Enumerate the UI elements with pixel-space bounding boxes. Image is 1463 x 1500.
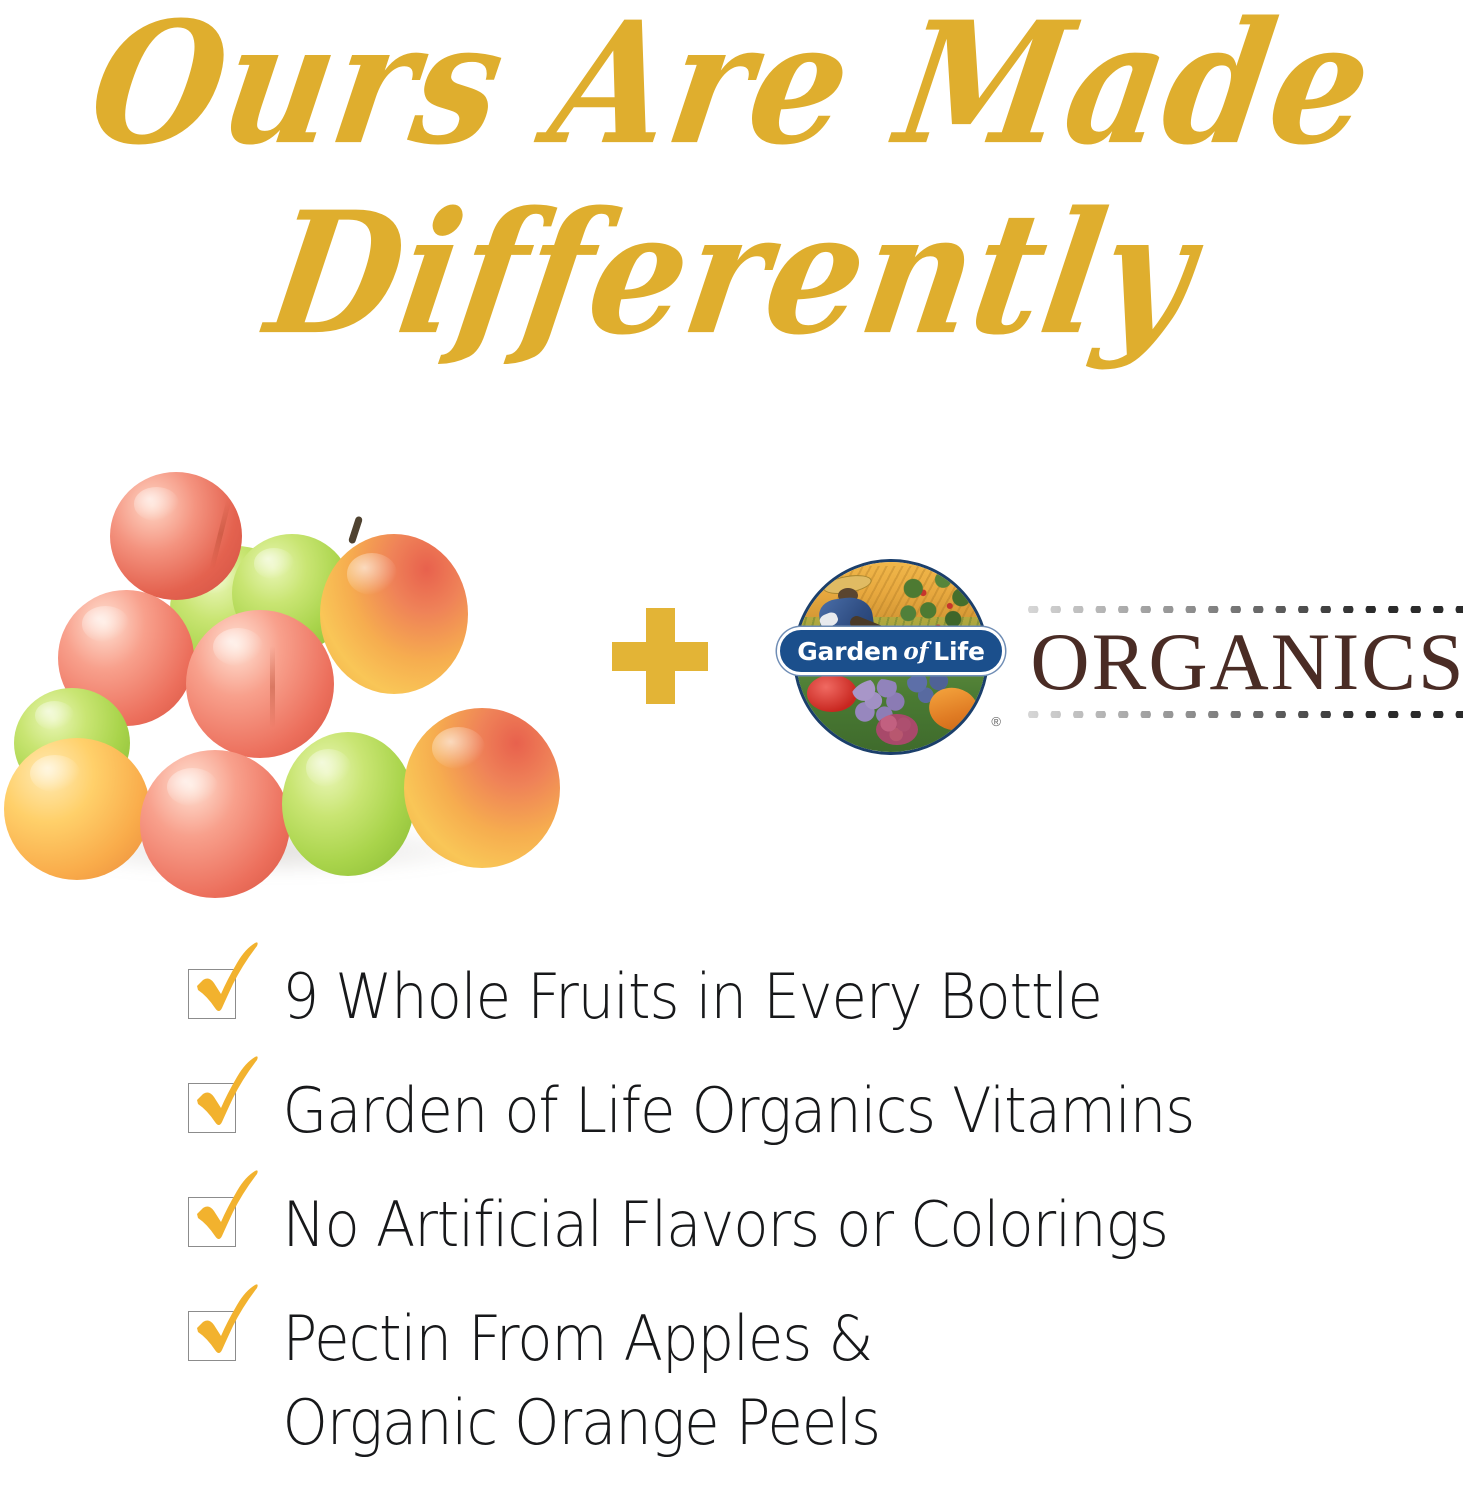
dotted-rule-top xyxy=(1022,606,1463,613)
organics-wordmark: ORGANICS xyxy=(1022,598,1463,726)
feature-checklist: 9 Whole Fruits in Every Bottle Garden of… xyxy=(188,955,1418,1491)
peach-front xyxy=(140,750,290,898)
raspberry-icon xyxy=(876,714,918,745)
organics-text: ORGANICS xyxy=(1022,620,1463,704)
checklist-label-2: Garden of Life Organics Vitamins xyxy=(236,1069,1335,1153)
dotted-rule-bottom xyxy=(1022,711,1463,718)
peach-crease xyxy=(270,646,275,728)
plus-icon xyxy=(612,608,708,704)
plus-bar-vertical xyxy=(646,608,675,704)
headline-line-2: Differently xyxy=(0,187,1463,363)
checkbox-4[interactable] xyxy=(188,1311,236,1361)
checkbox-2[interactable] xyxy=(188,1083,236,1133)
fruit-photo xyxy=(0,450,600,890)
checklist-item: Pectin From Apples & Organic Orange Peel… xyxy=(188,1297,1418,1465)
peach-gold xyxy=(4,738,150,880)
logo-name-garden: Garden xyxy=(797,637,898,666)
peach-twotone xyxy=(320,534,468,694)
checkbox-3[interactable] xyxy=(188,1197,236,1247)
apple-green-front xyxy=(282,732,414,876)
checklist-label-1: 9 Whole Fruits in Every Bottle xyxy=(236,955,1335,1039)
peach-center xyxy=(186,610,334,758)
checklist-label-3: No Artificial Flavors or Colorings xyxy=(236,1183,1335,1267)
peach-right xyxy=(404,708,560,868)
checkbox-1[interactable] xyxy=(188,969,236,1019)
checklist-item: No Artificial Flavors or Colorings xyxy=(188,1183,1418,1271)
checklist-item: Garden of Life Organics Vitamins xyxy=(188,1069,1418,1157)
logo-name-of: of xyxy=(898,638,933,665)
checklist-item: 9 Whole Fruits in Every Bottle xyxy=(188,955,1418,1043)
headline-block: Ours Are Made Differently xyxy=(0,0,1463,430)
checklist-label-4: Pectin From Apples & Organic Orange Peel… xyxy=(236,1297,1335,1465)
apple-stem xyxy=(348,516,363,545)
logo-name-banner: Garden of Life xyxy=(777,627,1005,675)
logo-name-life: Life xyxy=(933,637,985,666)
headline-line-1: Ours Are Made xyxy=(0,0,1463,173)
registered-trademark-mark: ® xyxy=(991,714,1001,729)
garden-of-life-logo: Garden of Life ® xyxy=(793,559,989,755)
